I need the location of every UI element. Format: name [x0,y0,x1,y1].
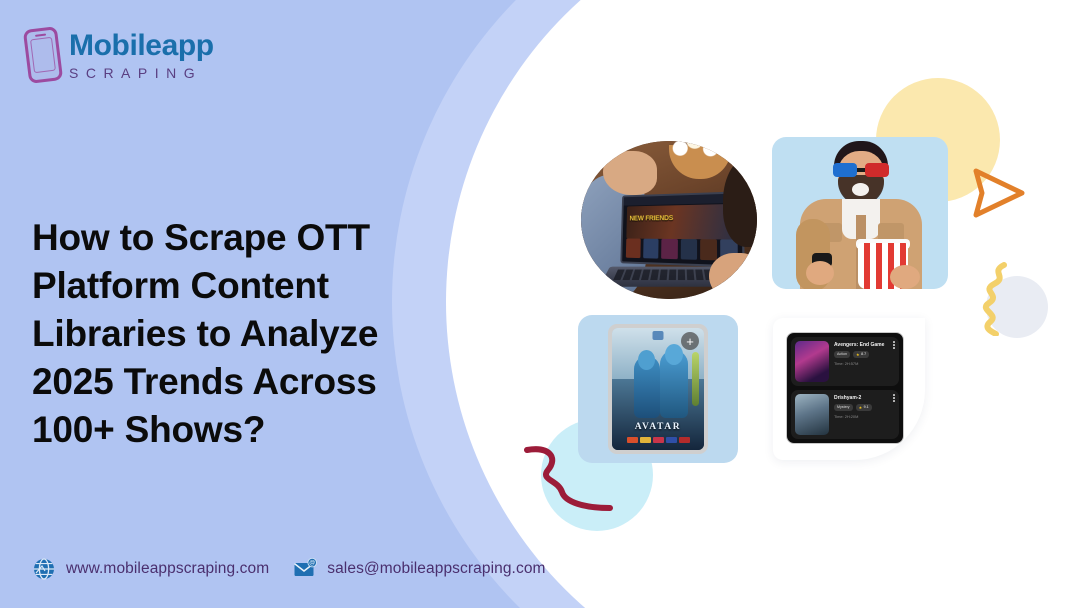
movie-rating-value: 8.7 [861,352,866,356]
play-outline-icon [966,163,1032,225]
movie-poster-thumbnail [795,341,829,382]
list-item[interactable]: Drishyam-2 Mystery ★ 9.1 Time: 2H:20M [791,390,899,439]
avatar-poster-title: AVATAR [612,422,704,432]
movie-rating-value: 9.1 [864,405,869,409]
svg-text:@: @ [309,561,315,567]
image-collage: NEW FRIENDS [0,0,1080,608]
tile-avatar-poster: AVATAR + [578,315,738,463]
movie-duration-value: 2H:20M [845,414,859,419]
zigzag-icon [982,262,1018,336]
more-vertical-icon[interactable] [893,341,895,349]
movie-rating-badge: ★ 8.7 [853,351,869,359]
movie-duration-label: Time: [834,361,844,366]
movie-title: Drishyam-2 [834,395,895,401]
movie-duration: Time: 2H:57M [834,361,895,366]
movie-duration-value: 2H:57M [845,361,859,366]
movie-duration: Time: 2H:20M [834,414,895,419]
movie-list-card: Avengers: End Game Action ★ 8.7 Time: 2H… [773,318,925,460]
laptop-screen-title: NEW FRIENDS [629,215,673,222]
photo-man-with-3d-glasses [772,137,948,289]
envelope-icon: @ [293,557,317,581]
movie-genre-badge: Mystery [834,404,853,411]
movie-list: Avengers: End Game Action ★ 8.7 Time: 2H… [786,332,904,444]
avatar-format-badges [612,437,704,443]
movie-rating-badge: ★ 9.1 [856,404,872,412]
movie-poster-thumbnail [795,394,829,435]
photo-person-watching-laptop: NEW FRIENDS [581,141,757,299]
globe-icon [32,557,56,581]
more-vertical-icon[interactable] [893,394,895,402]
tablet-device: AVATAR + [608,324,708,454]
footer-email-text: sales@mobileappscraping.com [327,560,545,578]
movie-duration-label: Time: [834,414,844,419]
3d-glasses-icon [832,163,890,177]
footer-contact-bar: www.mobileappscraping.com @ sales@mobile… [32,557,546,581]
movie-genre-badge: Action [834,351,850,358]
movie-title: Avengers: End Game [834,342,895,348]
star-icon: ★ [859,405,863,410]
footer-website-text: www.mobileappscraping.com [66,560,269,578]
footer-website[interactable]: www.mobileappscraping.com [32,557,269,581]
footer-email[interactable]: @ sales@mobileappscraping.com [293,557,545,581]
add-to-list-button[interactable]: + [681,332,699,350]
star-icon: ★ [856,352,860,357]
list-item[interactable]: Avengers: End Game Action ★ 8.7 Time: 2H… [791,337,899,386]
